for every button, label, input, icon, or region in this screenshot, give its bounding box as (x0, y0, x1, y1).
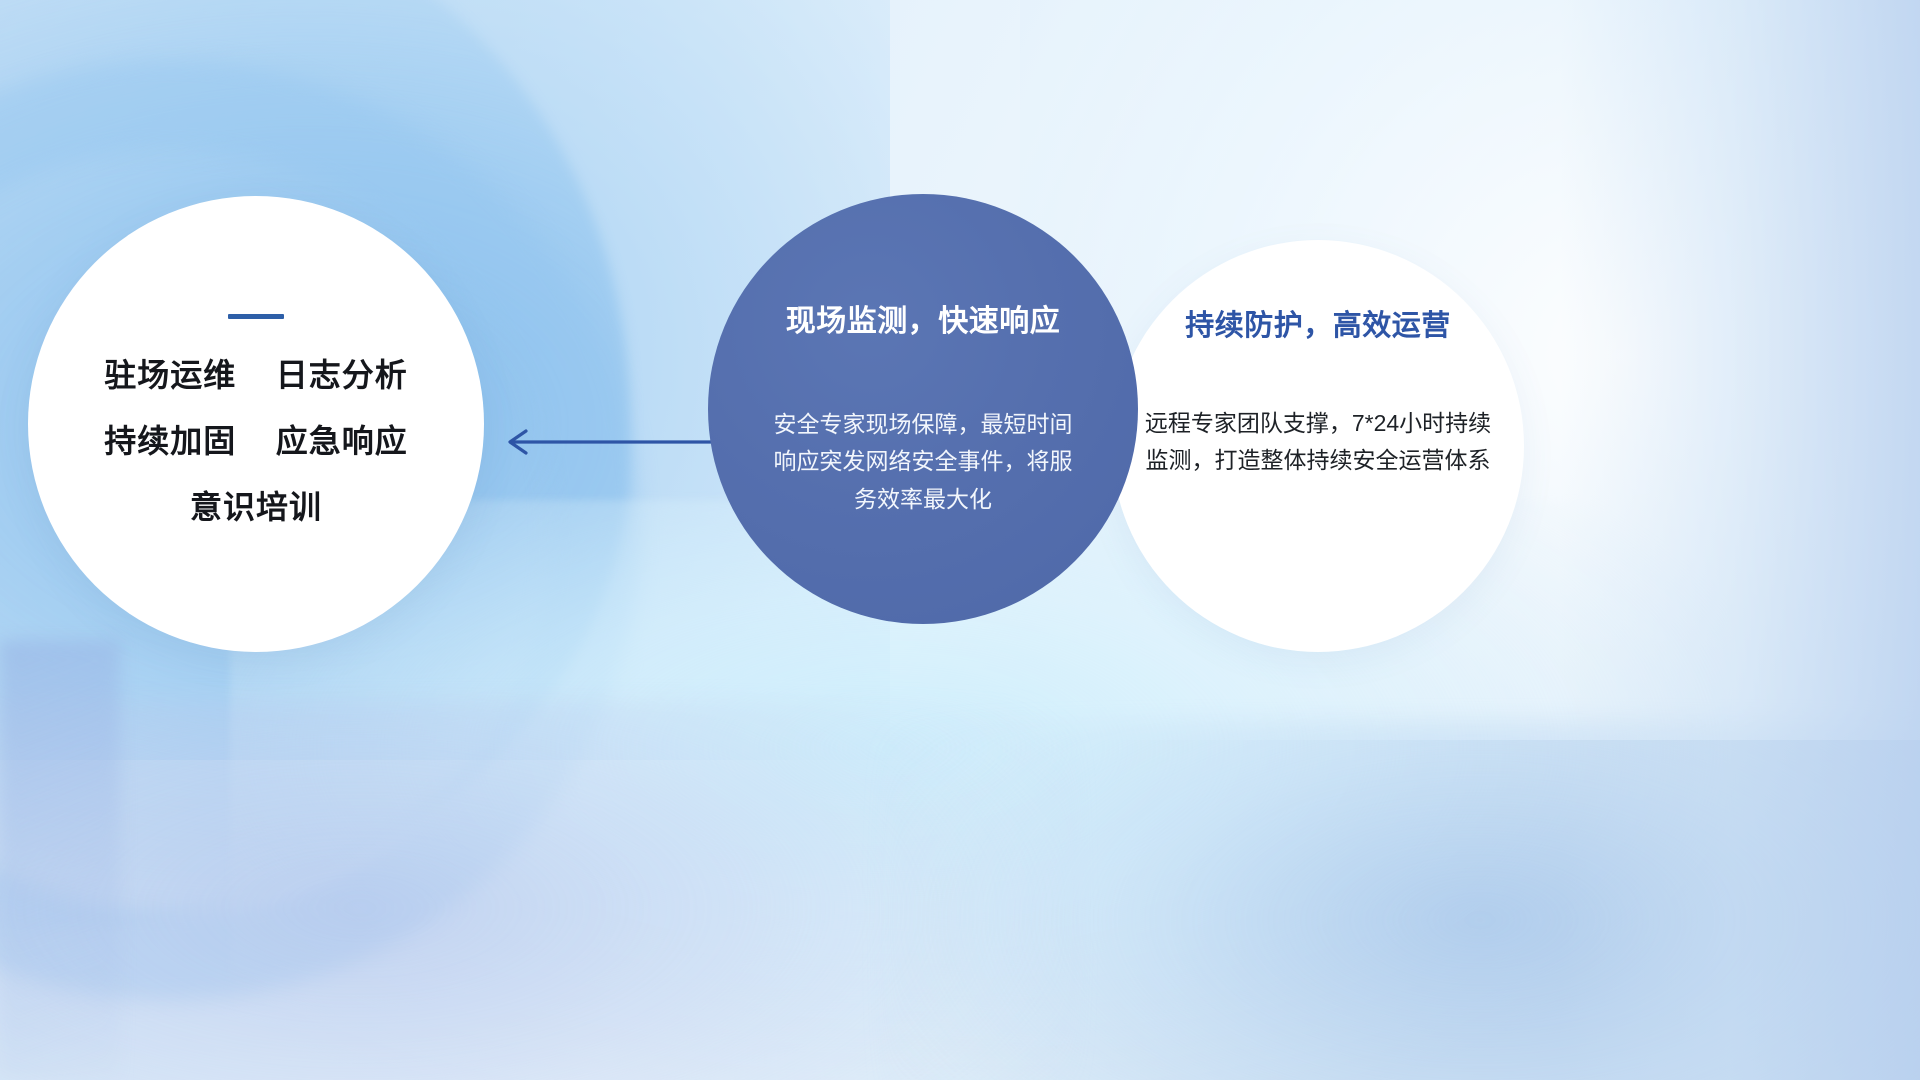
title-dash-divider (228, 314, 284, 319)
capability-line-2: 持续加固 应急响应 (62, 425, 450, 457)
flow-arrow-icon (492, 420, 732, 464)
capability-line-3: 意识培训 (62, 491, 450, 523)
slide-canvas: 驻场运维 日志分析 持续加固 应急响应 意识培训 现场监测，快速响应 安全专家现… (0, 0, 1920, 1080)
background-left-strip (0, 640, 120, 1080)
capabilities-circle[interactable]: 驻场运维 日志分析 持续加固 应急响应 意识培训 (28, 196, 484, 652)
onsite-monitoring-body: 安全专家现场保障，最短时间响应突发网络安全事件，将服务效率最大化 (764, 406, 1082, 518)
onsite-monitoring-circle[interactable]: 现场监测，快速响应 安全专家现场保障，最短时间响应突发网络安全事件，将服务效率最… (708, 194, 1138, 624)
continuous-protection-circle[interactable]: 持续防护，高效运营 远程专家团队支撑，7*24小时持续监测，打造整体持续安全运营… (1112, 240, 1524, 652)
continuous-protection-title: 持续防护，高效运营 (1112, 302, 1524, 344)
continuous-protection-body: 远程专家团队支撑，7*24小时持续监测，打造整体持续安全运营体系 (1138, 405, 1498, 480)
onsite-monitoring-title: 现场监测，快速响应 (708, 296, 1138, 340)
capabilities-content: 驻场运维 日志分析 持续加固 应急响应 意识培训 (28, 314, 484, 523)
background-right-edge (1560, 0, 1920, 1080)
capability-line-1: 驻场运维 日志分析 (62, 359, 450, 391)
